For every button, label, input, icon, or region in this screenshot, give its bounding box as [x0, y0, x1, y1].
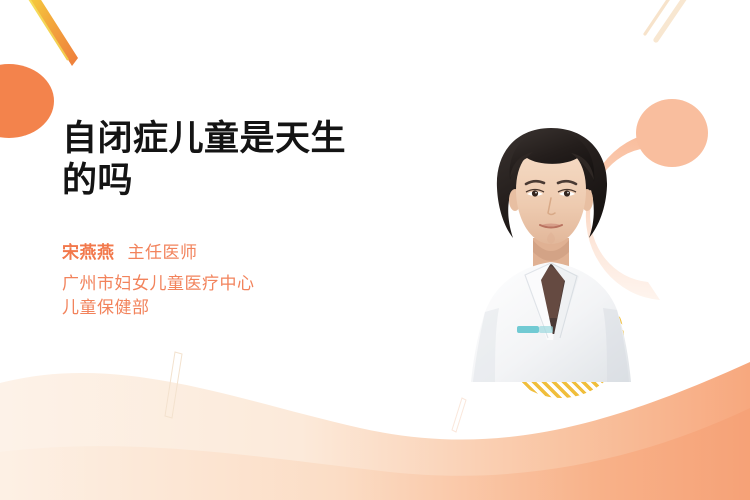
top-right-lines-decoration: [645, 0, 686, 40]
doctor-name: 宋燕燕: [62, 238, 115, 263]
page-title: 自闭症儿童是天生 的吗: [62, 118, 422, 202]
top-left-ribbon-decoration: [26, 0, 78, 66]
doctor-intro-slide: 自闭症儿童是天生 的吗 宋燕燕 主任医师 广州市妇女儿童医疗中心 儿童保健部: [0, 0, 750, 500]
bottom-wave-decoration: [0, 362, 750, 500]
text-content-block: 自闭症儿童是天生 的吗 宋燕燕 主任医师 广州市妇女儿童医疗中心 儿童保健部: [62, 118, 422, 320]
doctor-affiliation: 广州市妇女儿童医疗中心 儿童保健部: [62, 272, 422, 320]
doctor-rank: 主任医师: [128, 238, 198, 263]
doctor-portrait: [455, 112, 647, 382]
doctor-byline: 宋燕燕 主任医师: [62, 238, 422, 263]
